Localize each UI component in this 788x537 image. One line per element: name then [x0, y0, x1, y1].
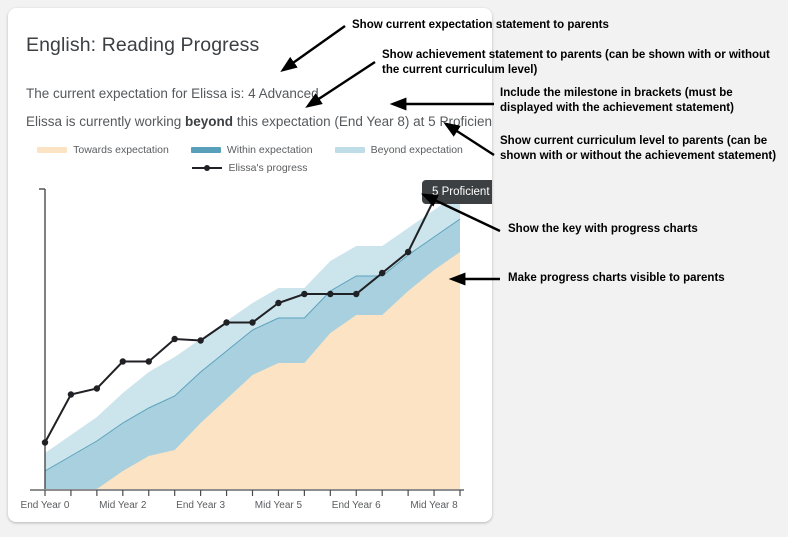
x-tick-label: Mid Year 5	[255, 500, 303, 511]
progress-point[interactable]	[171, 336, 177, 342]
x-tick-label: End Year 6	[332, 500, 381, 511]
progress-point[interactable]	[146, 358, 152, 364]
progress-point[interactable]	[94, 385, 100, 391]
progress-point[interactable]	[42, 439, 48, 445]
chart-tooltip: 5 Proficient	[422, 180, 492, 204]
progress-point[interactable]	[120, 358, 126, 364]
chart-bands	[45, 192, 460, 489]
progress-card: English: Reading Progress The current ex…	[8, 8, 492, 522]
progress-point[interactable]	[275, 300, 281, 306]
progress-point[interactable]	[379, 270, 385, 276]
progress-point[interactable]	[327, 291, 333, 297]
progress-point[interactable]	[405, 249, 411, 255]
progress-point[interactable]	[68, 391, 74, 397]
annotation-milestone: Include the milestone in brackets (must …	[500, 86, 788, 116]
progress-point[interactable]	[197, 337, 203, 343]
progress-point[interactable]	[353, 291, 359, 297]
annotation-visible: Make progress charts visible to parents	[508, 271, 778, 286]
progress-point[interactable]	[249, 319, 255, 325]
progress-point[interactable]	[223, 319, 229, 325]
annotation-curriculum: Show current curriculum level to parents…	[500, 134, 780, 164]
x-tick-label: Mid Year 8	[410, 500, 458, 511]
progress-chart[interactable]: End Year 0Mid Year 2End Year 3Mid Year 5…	[8, 8, 492, 522]
annotation-key: Show the key with progress charts	[508, 222, 778, 237]
progress-point[interactable]	[301, 291, 307, 297]
x-tick-label: End Year 3	[176, 500, 225, 511]
x-tick-label: End Year 0	[21, 500, 70, 511]
x-axis-tick-labels: End Year 0Mid Year 2End Year 3Mid Year 5…	[21, 500, 459, 511]
x-tick-label: Mid Year 2	[99, 500, 147, 511]
